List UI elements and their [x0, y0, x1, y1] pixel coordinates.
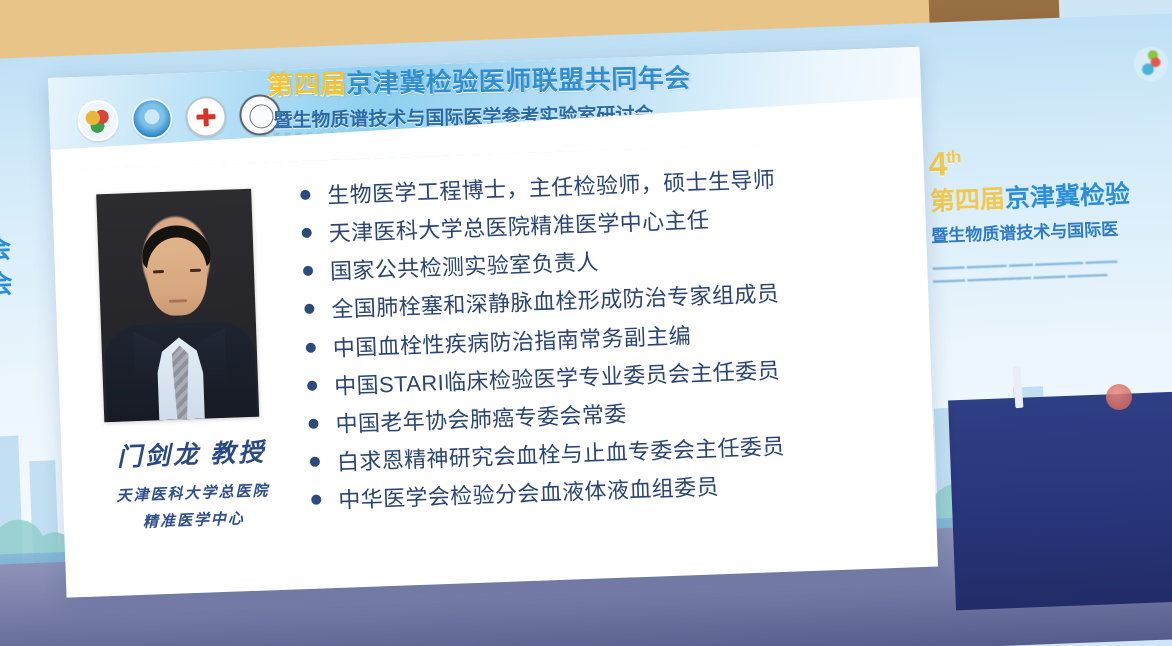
slide-title-edition: 第四届 — [267, 69, 347, 100]
podium — [948, 392, 1172, 611]
speaker-affiliation: 天津医科大学总医院 精准医学中心 — [107, 478, 281, 538]
slide-body: 门剑龙 教授 天津医科大学总医院 精准医学中心 生物医学工程博士，主任检验师，硕… — [51, 139, 938, 598]
list-item-label: 中华医学会检验分会血液体液血组委员 — [338, 474, 720, 516]
logo-multicolor-seal-icon — [77, 100, 119, 142]
slide-title-block: 第四届京津冀检验医师联盟共同年会 暨生物质谱技术与国际医学参考实验室研讨会 — [267, 63, 704, 138]
conference-photo-stage: 4th 第四届京津冀检验 暨生物质谱技术与国际医 ▬▬▬▬ ▬▬▬▬▬ ▬▬▬ … — [0, 0, 1172, 646]
face — [145, 236, 208, 316]
bullet-dot-icon — [304, 304, 314, 314]
mouth — [169, 299, 187, 303]
slide-title-main: 京津冀检验医师联盟共同年会 — [346, 63, 691, 99]
bullet-dot-icon — [302, 228, 312, 238]
backdrop-title: 京津冀检验 — [1004, 180, 1130, 213]
speaker-photo — [96, 189, 259, 422]
backdrop-edition: 第四届 — [929, 185, 1005, 216]
speaker-column: 门剑龙 教授 天津医科大学总医院 精准医学中心 — [52, 169, 315, 598]
eye-left — [152, 270, 163, 273]
bullet-dot-icon — [310, 457, 320, 467]
bullet-dot-icon — [308, 418, 318, 428]
organization-logos — [77, 94, 281, 142]
logo-red-cross-icon — [185, 96, 227, 138]
bullet-dot-icon — [306, 342, 316, 352]
list-item-label: 中国STARI临床检验医学专业委员会主任委员 — [334, 357, 781, 401]
list-item-label: 中国血栓性疾病防治指南常务副主编 — [332, 322, 691, 363]
eye-right — [189, 269, 200, 272]
flower-decoration — [1106, 384, 1132, 410]
bullet-dot-icon — [311, 495, 321, 505]
projected-slide: 第四届京津冀检验医师联盟共同年会 暨生物质谱技术与国际医学参考实验室研讨会 — [48, 47, 938, 598]
list-item-label: 天津医科大学总医院精准医学中心主任 — [328, 207, 710, 249]
logo-blue-circular-icon — [131, 98, 173, 140]
list-item-label: 白求恩精神研究会血栓与止血专委会主任委员 — [336, 433, 785, 477]
list-item-label: 国家公共检测实验室负责人 — [330, 249, 600, 287]
speaker-name: 门剑龙 教授 — [105, 432, 278, 474]
slide-title-line: 第四届京津冀检验医师联盟共同年会 — [267, 63, 703, 101]
list-item-label: 全国肺栓塞和深静脉血栓形成防治专家组成员 — [331, 280, 780, 324]
slide-subtitle: 暨生物质谱技术与国际医学参考实验室研讨会 — [273, 98, 703, 132]
bullet-dot-icon — [307, 380, 317, 390]
list-item-label: 中国老年协会肺癌专委会常委 — [335, 400, 627, 439]
credentials-list: 生物医学工程博士，主任检验师，硕士生导师 天津医科大学总医院精准医学中心主任 国… — [299, 147, 938, 597]
bullet-dot-icon — [300, 190, 310, 200]
corner-emblem-icon — [1132, 42, 1170, 86]
list-item-label: 生物医学工程博士，主任检验师，硕士生导师 — [327, 166, 776, 210]
bullet-dot-icon — [303, 266, 313, 276]
backdrop-event-banner: 4th 第四届京津冀检验 暨生物质谱技术与国际医 ▬▬▬▬ ▬▬▬▬▬ ▬▬▬ … — [928, 138, 1172, 287]
